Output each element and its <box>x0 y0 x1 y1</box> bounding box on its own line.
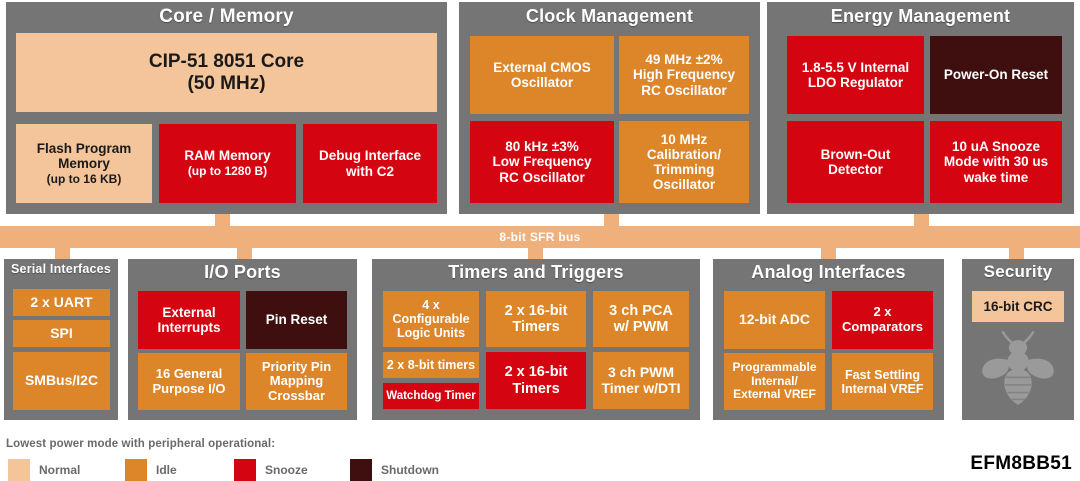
block-line: 12-bit ADC <box>739 312 810 328</box>
panel-title-io-ports: I/O Ports <box>128 263 357 282</box>
block-line: SPI <box>50 326 73 342</box>
block-watchdog-timer: Watchdog Timer <box>383 383 479 409</box>
block-timers-16bit-idle: 2 x 16-bit Timers <box>486 291 586 347</box>
legend-item-normal: Normal <box>8 459 80 481</box>
legend-label-snooze: Snooze <box>265 463 308 477</box>
block-pin-reset: Pin Reset <box>246 291 347 349</box>
block-line: 16 General <box>156 366 223 381</box>
block-line: Interrupts <box>157 320 220 335</box>
panel-title-analog-interfaces: Analog Interfaces <box>713 263 944 282</box>
block-line: (50 MHz) <box>187 73 265 94</box>
block-timers-16bit-snooze: 2 x 16-bit Timers <box>486 352 586 409</box>
block-cip51-core: CIP-51 8051 Core (50 MHz) <box>16 33 437 112</box>
block-priority-pin-mapping-crossbar: Priority Pin Mapping Crossbar <box>246 353 347 410</box>
block-line: with C2 <box>346 164 394 179</box>
block-line: Trimming <box>654 162 715 177</box>
block-line: External CMOS <box>493 60 591 75</box>
panel-title-security: Security <box>962 263 1074 281</box>
block-line: Internal/ <box>751 374 798 388</box>
panel-title-energy-management: Energy Management <box>767 7 1074 26</box>
block-programmable-vref: Programmable Internal/ External VREF <box>724 353 825 410</box>
block-8bit-timers: 2 x 8-bit timers <box>383 352 479 378</box>
block-line: 49 MHz ±2% <box>645 52 722 67</box>
block-line: Configurable <box>392 312 469 326</box>
block-line: 1.8-5.5 V Internal <box>802 60 909 75</box>
block-pwm-timer-dti: 3 ch PWM Timer w/DTI <box>593 352 689 409</box>
block-line: (up to 1280 B) <box>188 164 267 178</box>
block-line: Priority Pin <box>262 359 331 374</box>
block-line: Timers <box>512 319 559 335</box>
panel-title-core-memory: Core / Memory <box>6 7 447 27</box>
block-high-frequency-rc-oscillator: 49 MHz ±2% High Frequency RC Oscillator <box>619 36 749 114</box>
block-fast-settling-vref: Fast Settling Internal VREF <box>832 353 933 410</box>
legend-label-normal: Normal <box>39 463 80 477</box>
block-line: 3 ch PWM <box>608 364 674 380</box>
panel-title-serial-interfaces: Serial Interfaces <box>4 263 118 276</box>
block-line: Flash Program <box>37 141 132 156</box>
sfr-bus: 8-bit SFR bus <box>0 226 1080 248</box>
block-line: External <box>162 305 215 320</box>
panel-energy-management: Energy Management 1.8-5.5 V Internal LDO… <box>767 2 1074 214</box>
block-line: Calibration/ <box>647 147 721 162</box>
legend-swatch-idle <box>125 459 147 481</box>
block-ldo-regulator: 1.8-5.5 V Internal LDO Regulator <box>787 36 924 114</box>
block-low-frequency-rc-oscillator: 80 kHz ±3% Low Frequency RC Oscillator <box>470 121 614 203</box>
block-external-interrupts: External Interrupts <box>138 291 240 349</box>
block-smbus-i2c: SMBus/I2C <box>13 352 110 410</box>
block-configurable-logic-units: 4 x Configurable Logic Units <box>383 291 479 347</box>
block-line: 4 x <box>422 298 439 312</box>
block-line: Power-On Reset <box>944 67 1048 82</box>
block-general-purpose-io: 16 General Purpose I/O <box>138 353 240 410</box>
block-line: 3 ch PCA <box>609 303 673 319</box>
legend-label-idle: Idle <box>156 463 177 477</box>
legend-caption: Lowest power mode with peripheral operat… <box>6 438 275 450</box>
block-line: LDO Regulator <box>808 75 903 90</box>
legend-item-idle: Idle <box>125 459 177 481</box>
block-line: 2 x 8-bit timers <box>387 358 475 372</box>
block-line: External VREF <box>733 387 816 401</box>
block-line: Watchdog Timer <box>386 390 475 403</box>
block-brown-out-detector: Brown-Out Detector <box>787 121 924 203</box>
block-line: CIP-51 8051 Core <box>149 51 304 72</box>
block-flash-program-memory: Flash Program Memory (up to 16 KB) <box>16 124 152 203</box>
block-line: Detector <box>828 162 883 177</box>
block-line: Crossbar <box>268 388 325 403</box>
block-line: RC Oscillator <box>641 83 727 98</box>
block-line: Brown-Out <box>821 147 891 162</box>
legend-swatch-snooze <box>234 459 256 481</box>
block-line: Programmable <box>732 360 816 374</box>
block-adc: 12-bit ADC <box>724 291 825 349</box>
block-line: Mapping <box>270 373 323 388</box>
block-line: w/ PWM <box>614 319 669 335</box>
block-line: RAM Memory <box>184 148 270 163</box>
block-line: (up to 16 KB) <box>47 172 122 186</box>
block-line: 10 uA Snooze <box>952 139 1040 154</box>
block-line: Logic Units <box>397 326 465 340</box>
panel-clock-management: Clock Management External CMOS Oscillato… <box>459 2 760 214</box>
sfr-bus-label: 8-bit SFR bus <box>499 230 580 244</box>
block-line: Timers <box>512 381 559 397</box>
block-power-on-reset: Power-On Reset <box>930 36 1062 114</box>
block-spi: SPI <box>13 320 110 347</box>
block-line: Fast Settling <box>845 368 920 382</box>
legend-item-shutdown: Shutdown <box>350 459 439 481</box>
legend-label-shutdown: Shutdown <box>381 463 439 477</box>
block-crc: 16-bit CRC <box>972 291 1064 322</box>
panel-io-ports: I/O Ports External Interrupts Pin Reset … <box>128 259 357 420</box>
block-snooze-mode: 10 uA Snooze Mode with 30 us wake time <box>930 121 1062 203</box>
legend-swatch-shutdown <box>350 459 372 481</box>
block-diagram: Core / Memory CIP-51 8051 Core (50 MHz) … <box>0 0 1080 481</box>
block-line: Oscillator <box>653 177 715 192</box>
block-debug-interface: Debug Interface with C2 <box>303 124 437 203</box>
block-line: Timer w/DTI <box>601 380 680 396</box>
bee-icon <box>980 331 1056 407</box>
block-line: Comparators <box>842 319 923 334</box>
block-line: High Frequency <box>633 67 735 82</box>
block-line: 16-bit CRC <box>983 299 1052 314</box>
panel-title-timers-and-triggers: Timers and Triggers <box>372 263 700 282</box>
block-line: Debug Interface <box>319 148 421 163</box>
panel-serial-interfaces: Serial Interfaces 2 x UART SPI SMBus/I2C <box>4 259 118 420</box>
block-line: 2 x UART <box>30 295 92 311</box>
block-uart: 2 x UART <box>13 289 110 316</box>
part-number: EFM8BB51 <box>970 453 1072 475</box>
block-line: RC Oscillator <box>499 170 585 185</box>
block-line: 2 x <box>873 304 891 319</box>
block-external-cmos-oscillator: External CMOS Oscillator <box>470 36 614 114</box>
block-line: Purpose I/O <box>153 381 226 396</box>
panel-analog-interfaces: Analog Interfaces 12-bit ADC 2 x Compara… <box>713 259 944 420</box>
block-ram-memory: RAM Memory (up to 1280 B) <box>159 124 296 203</box>
block-pca-pwm: 3 ch PCA w/ PWM <box>593 291 689 347</box>
block-line: 80 kHz ±3% <box>505 139 578 154</box>
block-line: 10 MHz <box>661 132 708 147</box>
block-calibration-trimming-oscillator: 10 MHz Calibration/ Trimming Oscillator <box>619 121 749 203</box>
block-line: Pin Reset <box>266 312 328 327</box>
block-line: 2 x 16-bit <box>505 364 568 380</box>
panel-title-clock-management: Clock Management <box>459 7 760 26</box>
legend-swatch-normal <box>8 459 30 481</box>
block-line: Memory <box>58 156 110 171</box>
panel-core-memory: Core / Memory CIP-51 8051 Core (50 MHz) … <box>6 2 447 214</box>
panel-security: Security 16-bit CRC <box>962 259 1074 420</box>
block-line: SMBus/I2C <box>25 373 98 389</box>
panel-timers-and-triggers: Timers and Triggers 4 x Configurable Log… <box>372 259 700 420</box>
block-line: Mode with 30 us <box>944 154 1048 169</box>
block-line: wake time <box>964 170 1029 185</box>
block-line: Low Frequency <box>492 154 591 169</box>
block-line: Internal VREF <box>842 382 924 396</box>
legend-item-snooze: Snooze <box>234 459 308 481</box>
block-comparators: 2 x Comparators <box>832 291 933 349</box>
block-line: Oscillator <box>511 75 573 90</box>
block-line: 2 x 16-bit <box>505 303 568 319</box>
